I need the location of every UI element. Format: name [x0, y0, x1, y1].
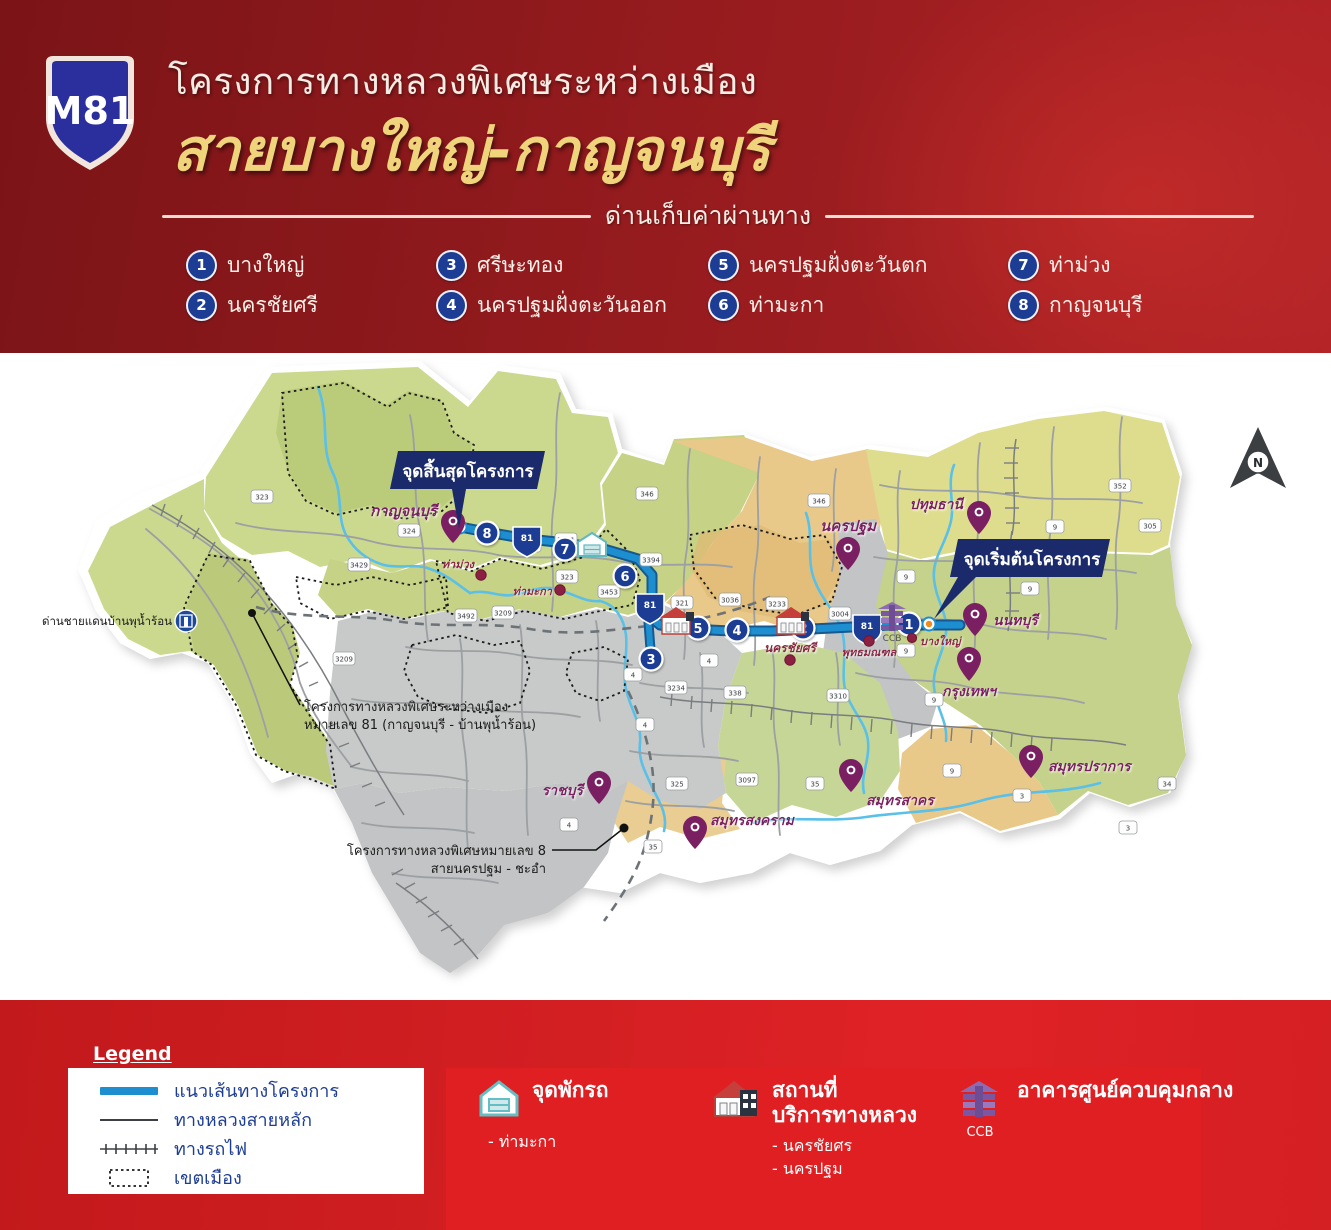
- toll-gate-number-badge: 2: [186, 290, 217, 321]
- svg-text:N: N: [1253, 456, 1263, 470]
- svg-text:323: 323: [560, 574, 573, 582]
- facility-sub-item: - นครชัยศร: [772, 1134, 917, 1157]
- toll-gate-label: บางใหญ่: [227, 249, 304, 282]
- town-dot-tha-muang: [476, 570, 486, 580]
- label-nakhon-chaisri: นครชัยศรี: [764, 641, 818, 655]
- svg-text:323: 323: [255, 494, 268, 502]
- legend-title: Legend: [93, 1043, 172, 1065]
- ccb-caption: CCB: [955, 1125, 1005, 1140]
- label-kanchanaburi: กาญจนบุรี: [370, 502, 440, 521]
- project-title-line2: สายบางใหญ่-กาญจนบุรี: [172, 103, 770, 196]
- legend-item-label: เขตเมือง: [174, 1163, 242, 1192]
- toll-gate-item-7[interactable]: 7 ท่าม่วง: [1008, 245, 1258, 285]
- facility-control-building: CCB อาคารศูนย์ควบคุมกลาง: [955, 1078, 1233, 1140]
- map-border-checkpoint-icon[interactable]: [175, 610, 197, 632]
- svg-text:346: 346: [812, 498, 826, 506]
- svg-text:9: 9: [904, 648, 908, 656]
- label-phutthamonthon: พุทธมณฑล: [842, 646, 898, 660]
- svg-text:4: 4: [631, 672, 636, 680]
- map-toll-marker-8[interactable]: 8: [476, 522, 499, 545]
- facility-sub-item: - นครปฐม: [772, 1157, 917, 1180]
- annotation-8-line1: โครงการทางหลวงพิเศษหมายเลข 8: [347, 843, 546, 859]
- rest-area-icon: [478, 1078, 520, 1122]
- facility-name-line2: บริการทางหลวง: [772, 1103, 917, 1128]
- toll-gate-number-badge: 4: [436, 290, 467, 321]
- toll-gate-number-badge: 7: [1008, 250, 1039, 281]
- svg-text:3: 3: [1020, 793, 1024, 801]
- toll-gate-label: ท่าม่วง: [1049, 249, 1111, 282]
- svg-text:9: 9: [904, 574, 908, 582]
- label-tha-muang: ท่าม่วง: [442, 558, 476, 571]
- toll-gate-number-badge: 1: [186, 250, 217, 281]
- route-shield-label: 81: [521, 534, 534, 544]
- legend-item-label: แนวเส้นทางโครงการ: [174, 1076, 339, 1105]
- town-dot-nakhon-chaisri: [785, 655, 795, 665]
- svg-text:3429: 3429: [350, 562, 368, 570]
- shield-label: M81: [45, 89, 136, 133]
- label-samut-songkhram: สมุทรสงคราม: [710, 813, 796, 829]
- control-building-icon: CCB: [955, 1078, 1005, 1140]
- rule-right: [825, 215, 1254, 218]
- map-svg: 324 323 324 3429 323 3081 323 3492 3209 …: [0, 353, 1331, 1000]
- map-toll-marker-3[interactable]: 3: [640, 648, 663, 671]
- svg-text:5: 5: [693, 622, 702, 637]
- label-bang-yai: บางใหญ่: [920, 634, 963, 648]
- facility-name: จุดพักรถ: [532, 1078, 609, 1103]
- legend-item-label: ทางหลวงสายหลัก: [174, 1105, 312, 1134]
- legend-item-railway: ทางรถไฟ: [68, 1134, 424, 1163]
- toll-gate-label: ท่ามะกา: [749, 289, 824, 322]
- toll-gate-item-5[interactable]: 5 นครปฐมฝั่งตะวันตก: [708, 245, 1008, 285]
- svg-text:3233: 3233: [768, 601, 786, 609]
- label-ratchaburi: ราชบุรี: [542, 782, 586, 799]
- toll-gate-number-badge: 5: [708, 250, 739, 281]
- toll-gate-item-2[interactable]: 2 นครชัยศรี: [186, 285, 436, 325]
- legend-item-main-highway: ทางหลวงสายหลัก: [68, 1105, 424, 1134]
- callout-end-label: จุดสิ้นสุดโครงการ: [402, 458, 534, 482]
- railway-line-icon: [96, 1142, 162, 1156]
- legend-item-label: ทางรถไฟ: [174, 1134, 247, 1163]
- map-canvas[interactable]: 324 323 324 3429 323 3081 323 3492 3209 …: [0, 353, 1331, 1000]
- toll-gate-item-8[interactable]: 8 กาญจนบุรี: [1008, 285, 1258, 325]
- route-shield-label: 81: [644, 601, 657, 611]
- label-nonthaburi: นนทบุรี: [993, 612, 1041, 629]
- toll-gate-item-1[interactable]: 1 บางใหญ่: [186, 245, 436, 285]
- svg-text:8: 8: [482, 527, 491, 542]
- svg-text:7: 7: [560, 543, 569, 558]
- svg-text:3453: 3453: [600, 589, 618, 597]
- annotation-81-line2: หมายเลข 81 (กาญจนบุรี - บ้านพุน้ำร้อน): [304, 715, 536, 733]
- route-shield-label: 81: [861, 622, 874, 632]
- svg-text:4: 4: [643, 722, 648, 730]
- dotted-rect-icon: [96, 1167, 162, 1189]
- facility-sub-item: - ท่ามะกา: [488, 1130, 609, 1153]
- toll-gate-list: 1 บางใหญ่ 3 ศรีษะทอง 5 นครปฐมฝั่งตะวันตก…: [186, 245, 1286, 325]
- svg-text:9: 9: [950, 768, 954, 776]
- svg-text:346: 346: [640, 491, 654, 499]
- svg-text:6: 6: [620, 570, 629, 585]
- rule-left: [162, 215, 591, 218]
- label-nakhon-pathom: นครปฐม: [820, 517, 877, 536]
- svg-text:35: 35: [811, 781, 820, 789]
- annotation-81-line1: โครงการทางหลวงพิเศษระหว่างเมือง: [304, 699, 508, 715]
- highway-service-icon: [712, 1078, 760, 1124]
- svg-text:3004: 3004: [831, 611, 849, 619]
- thin-dark-line-icon: [96, 1114, 162, 1126]
- m81-shield-logo: M81: [38, 52, 142, 174]
- legend-item-project-route: แนวเส้นทางโครงการ: [68, 1076, 424, 1105]
- toll-gate-number-badge: 3: [436, 250, 467, 281]
- thick-blue-line-icon: [96, 1085, 162, 1097]
- toll-gate-number-badge: 8: [1008, 290, 1039, 321]
- town-dot-phutthamonthon: [864, 636, 874, 646]
- label-border-checkpoint: ด่านชายแดนบ้านพุน้ำร้อน: [42, 613, 172, 628]
- svg-text:3310: 3310: [829, 693, 847, 701]
- toll-gate-label: กาญจนบุรี: [1049, 289, 1143, 322]
- facility-name: อาคารศูนย์ควบคุมกลาง: [1017, 1078, 1233, 1103]
- svg-text:35: 35: [649, 844, 658, 852]
- map-toll-marker-7[interactable]: 7: [554, 538, 577, 561]
- map-toll-marker-6[interactable]: 6: [614, 565, 637, 588]
- svg-text:3394: 3394: [642, 557, 660, 565]
- svg-text:3209: 3209: [494, 610, 512, 618]
- svg-text:338: 338: [728, 690, 741, 698]
- facility-rest-area: จุดพักรถ - ท่ามะกา: [478, 1078, 609, 1153]
- svg-text:9: 9: [932, 697, 936, 705]
- svg-text:9: 9: [1053, 524, 1057, 532]
- toll-gate-label: นครชัยศรี: [227, 289, 318, 322]
- region-ratchaburi-gray: [334, 781, 628, 973]
- label-pathum-thani: ปทุมธานี: [910, 496, 966, 513]
- svg-text:4: 4: [567, 822, 572, 830]
- legend-box: แนวเส้นทางโครงการ ทางหลวงสายหลัก ทางรถไฟ: [68, 1068, 424, 1194]
- label-samut-sakhon: สมุทรสาคร: [866, 793, 936, 809]
- toll-gate-label: ศรีษะทอง: [477, 249, 563, 282]
- town-dot-tha-maka: [555, 585, 565, 595]
- toll-gate-label: นครปฐมฝั่งตะวันออก: [477, 289, 667, 322]
- toll-section-title: ด่านเก็บค่าผ่านทาง: [605, 196, 811, 236]
- toll-gate-item-3[interactable]: 3 ศรีษะทอง: [436, 245, 708, 285]
- svg-text:1: 1: [904, 618, 913, 633]
- svg-text:4: 4: [732, 624, 741, 639]
- header-banner: M81 โครงการทางหลวงพิเศษระหว่างเมือง สายบ…: [0, 0, 1331, 353]
- ccb-map-label: CCB: [883, 634, 902, 644]
- map-toll-marker-4[interactable]: 4: [726, 619, 749, 642]
- label-samut-prakan: สมุทรปราการ: [1048, 759, 1133, 775]
- svg-text:3234: 3234: [667, 685, 685, 693]
- svg-text:352: 352: [1113, 483, 1126, 491]
- infographic-root: M81 โครงการทางหลวงพิเศษระหว่างเมือง สายบ…: [0, 0, 1331, 1230]
- svg-text:3: 3: [1126, 825, 1130, 833]
- callout-start-label: จุดเริ่มต้นโครงการ: [964, 547, 1102, 570]
- svg-text:3492: 3492: [457, 613, 475, 621]
- svg-text:3097: 3097: [738, 777, 756, 785]
- facility-name-line1: สถานที่: [772, 1078, 917, 1103]
- toll-gate-number-badge: 6: [708, 290, 739, 321]
- town-dot-bang-yai: [907, 633, 916, 642]
- region-northeast-pale: [866, 411, 1180, 559]
- svg-text:325: 325: [670, 781, 683, 789]
- label-bangkok: กรุงเทพฯ: [942, 684, 998, 700]
- toll-gate-item-6[interactable]: 6 ท่ามะกา: [708, 285, 1008, 325]
- svg-text:3209: 3209: [335, 656, 353, 664]
- svg-text:9: 9: [1028, 586, 1032, 594]
- toll-gate-label: นครปฐมฝั่งตะวันตก: [749, 249, 927, 282]
- svg-text:3: 3: [646, 653, 655, 668]
- svg-text:324: 324: [402, 528, 416, 536]
- svg-text:4: 4: [707, 658, 712, 666]
- facility-highway-service: สถานที่ บริการทางหลวง - นครชัยศร - นครปฐ…: [712, 1078, 917, 1180]
- svg-text:305: 305: [1143, 523, 1156, 531]
- svg-text:34: 34: [1163, 781, 1172, 789]
- legend-item-city-zone: เขตเมือง: [68, 1163, 424, 1192]
- annotation-8-line2: สายนครปฐม - ชะอำ: [431, 862, 546, 877]
- label-tha-maka: ท่ามะกา: [513, 585, 553, 598]
- svg-text:321: 321: [675, 600, 688, 608]
- compass-north-icon: N: [1230, 427, 1286, 488]
- toll-section-header: ด่านเก็บค่าผ่านทาง: [162, 198, 1254, 234]
- toll-gate-item-4[interactable]: 4 นครปฐมฝั่งตะวันออก: [436, 285, 708, 325]
- svg-text:3036: 3036: [721, 597, 739, 605]
